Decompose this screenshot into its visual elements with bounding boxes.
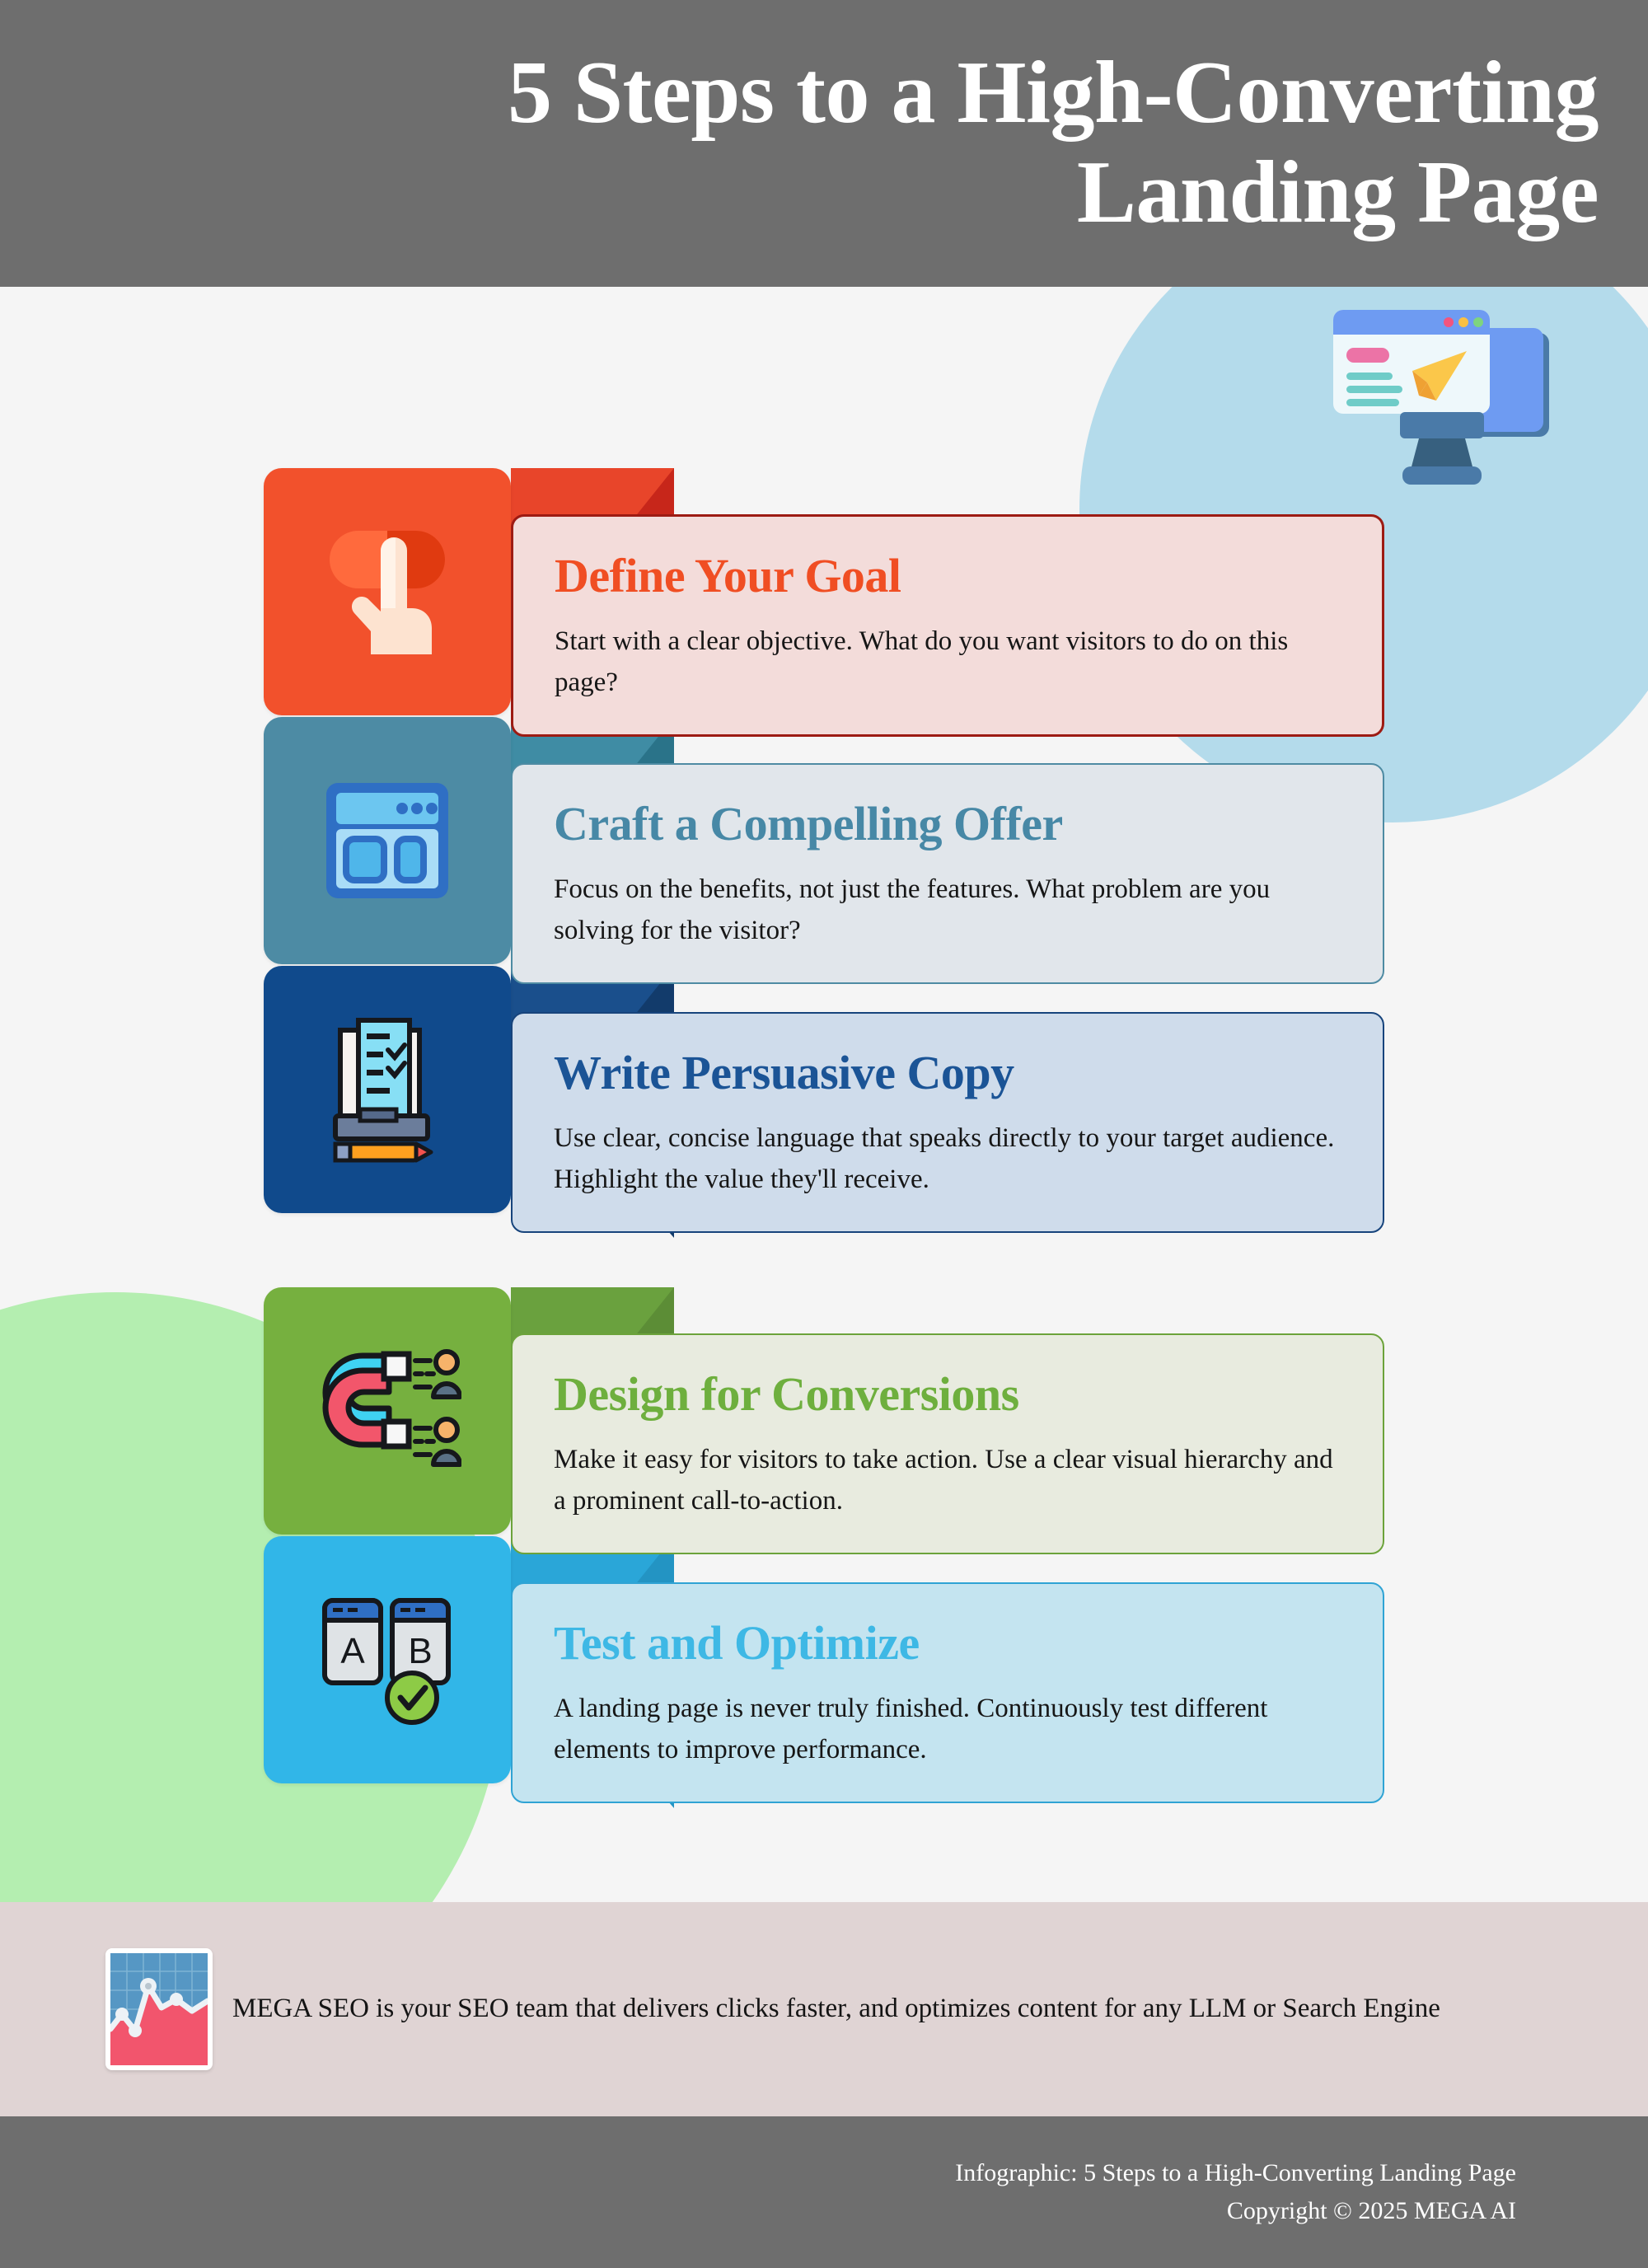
step-title-5: Test and Optimize [554,1617,1348,1670]
svg-text:B: B [408,1631,432,1671]
infographic-body: Define Your Goal Start with a clear obje… [0,287,1648,1902]
analytics-area-chart-icon [105,1948,213,2070]
promo-text: MEGA SEO is your SEO team that delivers … [232,1988,1440,2030]
step-title-3: Write Persuasive Copy [554,1047,1348,1099]
footer-copyright: Copyright © 2025 MEGA AI [1227,2192,1516,2230]
step-title-1: Define Your Goal [555,550,1347,602]
step-description-1: Start with a clear objective. What do yo… [555,621,1347,703]
step-card-4: Design for Conversions Make it easy for … [511,1333,1384,1554]
step-icon-tile-5: A B [264,1536,511,1783]
step-description-5: A landing page is never truly finished. … [554,1688,1348,1770]
step-card-1: Define Your Goal Start with a clear obje… [511,514,1384,737]
step-description-4: Make it easy for visitors to take action… [554,1439,1348,1521]
ab-test-cards-check-icon: A B [313,1586,461,1734]
page-title: 5 Steps to a High-Converting Landing Pag… [198,44,1599,243]
step-card-3: Write Persuasive Copy Use clear, concise… [511,1012,1384,1233]
step-description-2: Focus on the benefits, not just the feat… [554,869,1348,951]
promo-band: MEGA SEO is your SEO team that delivers … [0,1902,1648,2116]
step-icon-tile-4 [264,1287,511,1535]
step-card-2: Craft a Compelling Offer Focus on the be… [511,763,1384,984]
magnet-attracting-people-icon [313,1341,461,1481]
step-title-2: Craft a Compelling Offer [554,798,1348,850]
clipboard-checklist-pencil-icon [317,1015,457,1164]
step-title-4: Design for Conversions [554,1368,1348,1421]
step-description-3: Use clear, concise language that speaks … [554,1118,1348,1200]
footer-caption: Infographic: 5 Steps to a High-Convertin… [955,2154,1516,2192]
page-header: 5 Steps to a High-Converting Landing Pag… [0,0,1648,287]
browser-window-columns-icon [321,775,453,907]
step-icon-tile-3 [264,966,511,1213]
step-icon-tile-2 [264,717,511,964]
tap-click-hand-icon [313,518,461,666]
steps-list: Define Your Goal Start with a clear obje… [0,287,1648,1902]
step-card-5: Test and Optimize A landing page is neve… [511,1582,1384,1803]
step-icon-tile-1 [264,468,511,715]
svg-text:A: A [340,1631,365,1671]
page-footer: Infographic: 5 Steps to a High-Convertin… [0,2116,1648,2268]
